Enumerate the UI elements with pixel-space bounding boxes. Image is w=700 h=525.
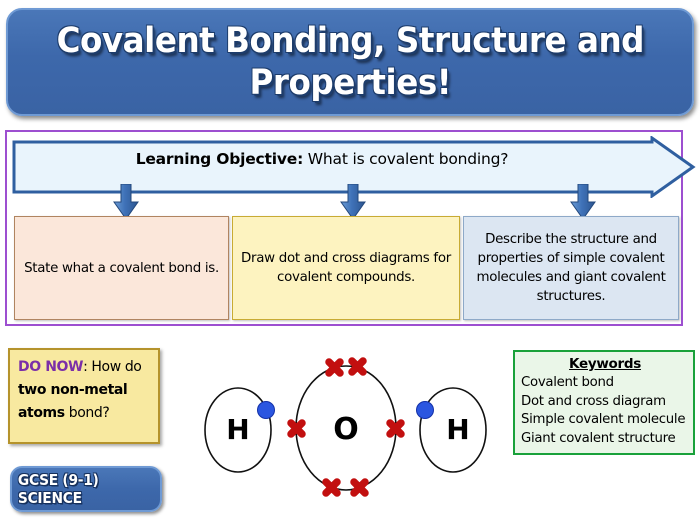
do-now-label: DO NOW: [18, 359, 83, 375]
svg-text:O: O: [333, 412, 359, 447]
keyword-item-4: Giant covalent structure: [521, 430, 689, 449]
gcse-badge-label: GCSE (9-1) SCIENCE: [18, 471, 154, 507]
keywords-box: Keywords Covalent bond Dot and cross dia…: [513, 350, 695, 455]
svg-text:H: H: [226, 413, 249, 446]
hydrogen-atom-right: H: [417, 388, 487, 472]
water-dot-and-cross-diagram: H O H: [196, 340, 496, 520]
learning-objective-label: Learning Objective:: [136, 150, 303, 168]
keyword-item-3: Simple covalent molecule: [521, 411, 689, 430]
page-title: Covalent Bonding, Structure and Properti…: [45, 20, 656, 104]
keywords-title: Keywords: [521, 355, 689, 374]
gcse-science-badge: GCSE (9-1) SCIENCE: [10, 466, 162, 512]
svg-text:H: H: [446, 413, 469, 446]
down-arrow-icon-2: [340, 184, 366, 220]
keyword-item-1: Covalent bond: [521, 374, 689, 393]
learning-objective-text: Learning Objective: What is covalent bon…: [12, 150, 632, 168]
oxygen-atom: O: [291, 361, 401, 493]
objective-text-2: Draw dot and cross diagrams for covalent…: [240, 249, 452, 287]
objective-box-2: Draw dot and cross diagrams for covalent…: [232, 216, 460, 320]
do-now-tail: bond?: [65, 405, 110, 421]
down-arrow-icon-1: [113, 184, 139, 220]
learning-objective-question: What is covalent bonding?: [303, 150, 508, 168]
down-arrow-icon-3: [570, 184, 596, 220]
slide-title-banner: Covalent Bonding, Structure and Properti…: [6, 8, 694, 116]
do-now-box: DO NOW: How do two non-metal atoms bond?: [8, 348, 160, 444]
hydrogen-atom-left: H: [205, 388, 275, 472]
objective-text-3: Describe the structure and properties of…: [471, 230, 671, 306]
objective-box-3: Describe the structure and properties of…: [463, 216, 679, 320]
keyword-item-2: Dot and cross diagram: [521, 393, 689, 412]
objective-text-1: State what a covalent bond is.: [24, 259, 219, 278]
objective-box-1: State what a covalent bond is.: [14, 216, 229, 320]
do-now-separator: : How do: [83, 359, 141, 375]
